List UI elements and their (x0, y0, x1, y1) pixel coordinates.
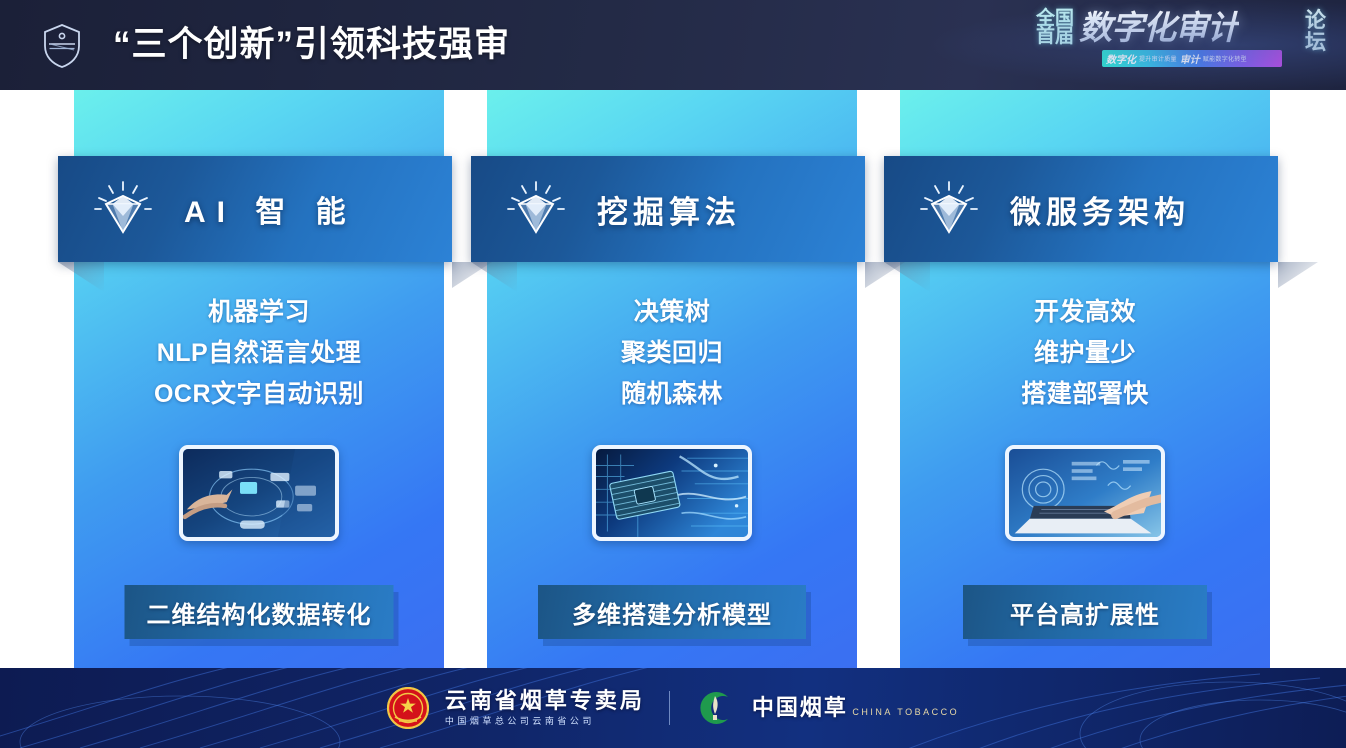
forum-logo-suffix-line2: 坛 (1305, 32, 1326, 54)
chip-label: 二维结构化数据转化 (147, 595, 372, 630)
column-bullet-list: 机器学习 NLP自然语言处理 OCR文字自动识别 (74, 292, 444, 415)
forum-logo-suffix: 论 坛 (1305, 10, 1326, 54)
shield-icon (38, 22, 86, 70)
ribbon-shadow-right (1278, 262, 1318, 288)
national-emblem-icon (387, 687, 429, 729)
bullet-item: NLP自然语言处理 (74, 333, 444, 374)
column-footer-chip: 多维搭建分析模型 (538, 585, 806, 639)
forum-logo-prefix: 全国 首届 (1036, 10, 1074, 46)
org-china-tobacco: 中国烟草 CHINA TOBACCO (752, 696, 959, 720)
footer-bar: 云南省烟草专卖局 中国烟草总公司云南省公司 中国烟草 CHINA TOBACCO (0, 668, 1346, 748)
forum-logo-subtitle-bar: 数字化 提升审计质量 审计 赋能数字化转型 (1102, 50, 1282, 67)
org1-sub: 中国烟草总公司云南省公司 (445, 715, 645, 728)
page-title: “三个创新”引领科技强审 (113, 20, 510, 70)
diamond-sparkle-icon (501, 178, 571, 240)
diamond-sparkle-icon (88, 178, 158, 240)
forum-logo: 全国 首届 数字化审计 论 坛 数字化 提升审计质量 审计 赋能数字化转型 (1036, 8, 1328, 82)
column-title: AI 智 能 (184, 187, 357, 231)
column-header-ribbon: 挖掘算法 (471, 156, 865, 262)
footer-divider (669, 691, 670, 725)
subtitle-right-small: 赋能数字化转型 (1203, 54, 1247, 63)
forum-logo-prefix-line1: 全国 (1036, 10, 1074, 28)
column-title: 微服务架构 (1010, 187, 1190, 232)
content-stage: AI 智 能 机器学习 NLP自然语言处理 OCR文字自动识别 (0, 90, 1346, 668)
diamond-sparkle-icon (914, 178, 984, 240)
org1-name: 云南省烟草专卖局 (445, 689, 645, 713)
china-tobacco-logo-icon (694, 687, 736, 729)
feature-column-algorithm: 挖掘算法 决策树 聚类回归 随机森林 (487, 90, 857, 668)
forum-logo-suffix-line1: 论 (1305, 10, 1326, 32)
column-bullet-list: 开发高效 维护量少 搭建部署快 (900, 292, 1270, 415)
org2-sub: CHINA TOBACCO (852, 707, 959, 717)
column-bullet-list: 决策树 聚类回归 随机森林 (487, 292, 857, 415)
cpu-circuit-photo (592, 445, 752, 541)
subtitle-left-big: 数字化 (1106, 51, 1136, 66)
column-footer-chip: 平台高扩展性 (963, 585, 1207, 639)
forum-logo-main: 数字化审计 (1079, 10, 1239, 46)
bullet-item: OCR文字自动识别 (74, 374, 444, 415)
touchscreen-network-photo (179, 445, 339, 541)
column-title: 挖掘算法 (597, 187, 741, 232)
bullet-item: 随机森林 (487, 374, 857, 415)
forum-logo-prefix-line2: 首届 (1036, 28, 1074, 46)
bullet-item: 机器学习 (74, 292, 444, 333)
bullet-item: 维护量少 (900, 333, 1270, 374)
column-footer-chip: 二维结构化数据转化 (125, 585, 394, 639)
chip-label: 平台高扩展性 (1010, 595, 1160, 630)
footer-logo-group: 云南省烟草专卖局 中国烟草总公司云南省公司 中国烟草 CHINA TOBACCO (0, 668, 1346, 748)
feature-column-ai: AI 智 能 机器学习 NLP自然语言处理 OCR文字自动识别 (74, 90, 444, 668)
bullet-item: 开发高效 (900, 292, 1270, 333)
column-header-ribbon: 微服务架构 (884, 156, 1278, 262)
laptop-touch-photo (1005, 445, 1165, 541)
subtitle-right-big: 审计 (1180, 51, 1200, 66)
feature-column-microservice: 微服务架构 开发高效 维护量少 搭建部署快 (900, 90, 1270, 668)
bullet-item: 决策树 (487, 292, 857, 333)
top-header-bar: “三个创新”引领科技强审 全国 首届 数字化审计 论 坛 数字化 提升审计质量 … (0, 0, 1346, 90)
column-header-ribbon: AI 智 能 (58, 156, 452, 262)
chip-label: 多维搭建分析模型 (572, 595, 772, 630)
bullet-item: 聚类回归 (487, 333, 857, 374)
org2-name: 中国烟草 (752, 695, 848, 720)
subtitle-left-small: 提升审计质量 (1139, 54, 1177, 63)
org-yunnan-tobacco: 云南省烟草专卖局 中国烟草总公司云南省公司 (445, 689, 645, 728)
bullet-item: 搭建部署快 (900, 374, 1270, 415)
